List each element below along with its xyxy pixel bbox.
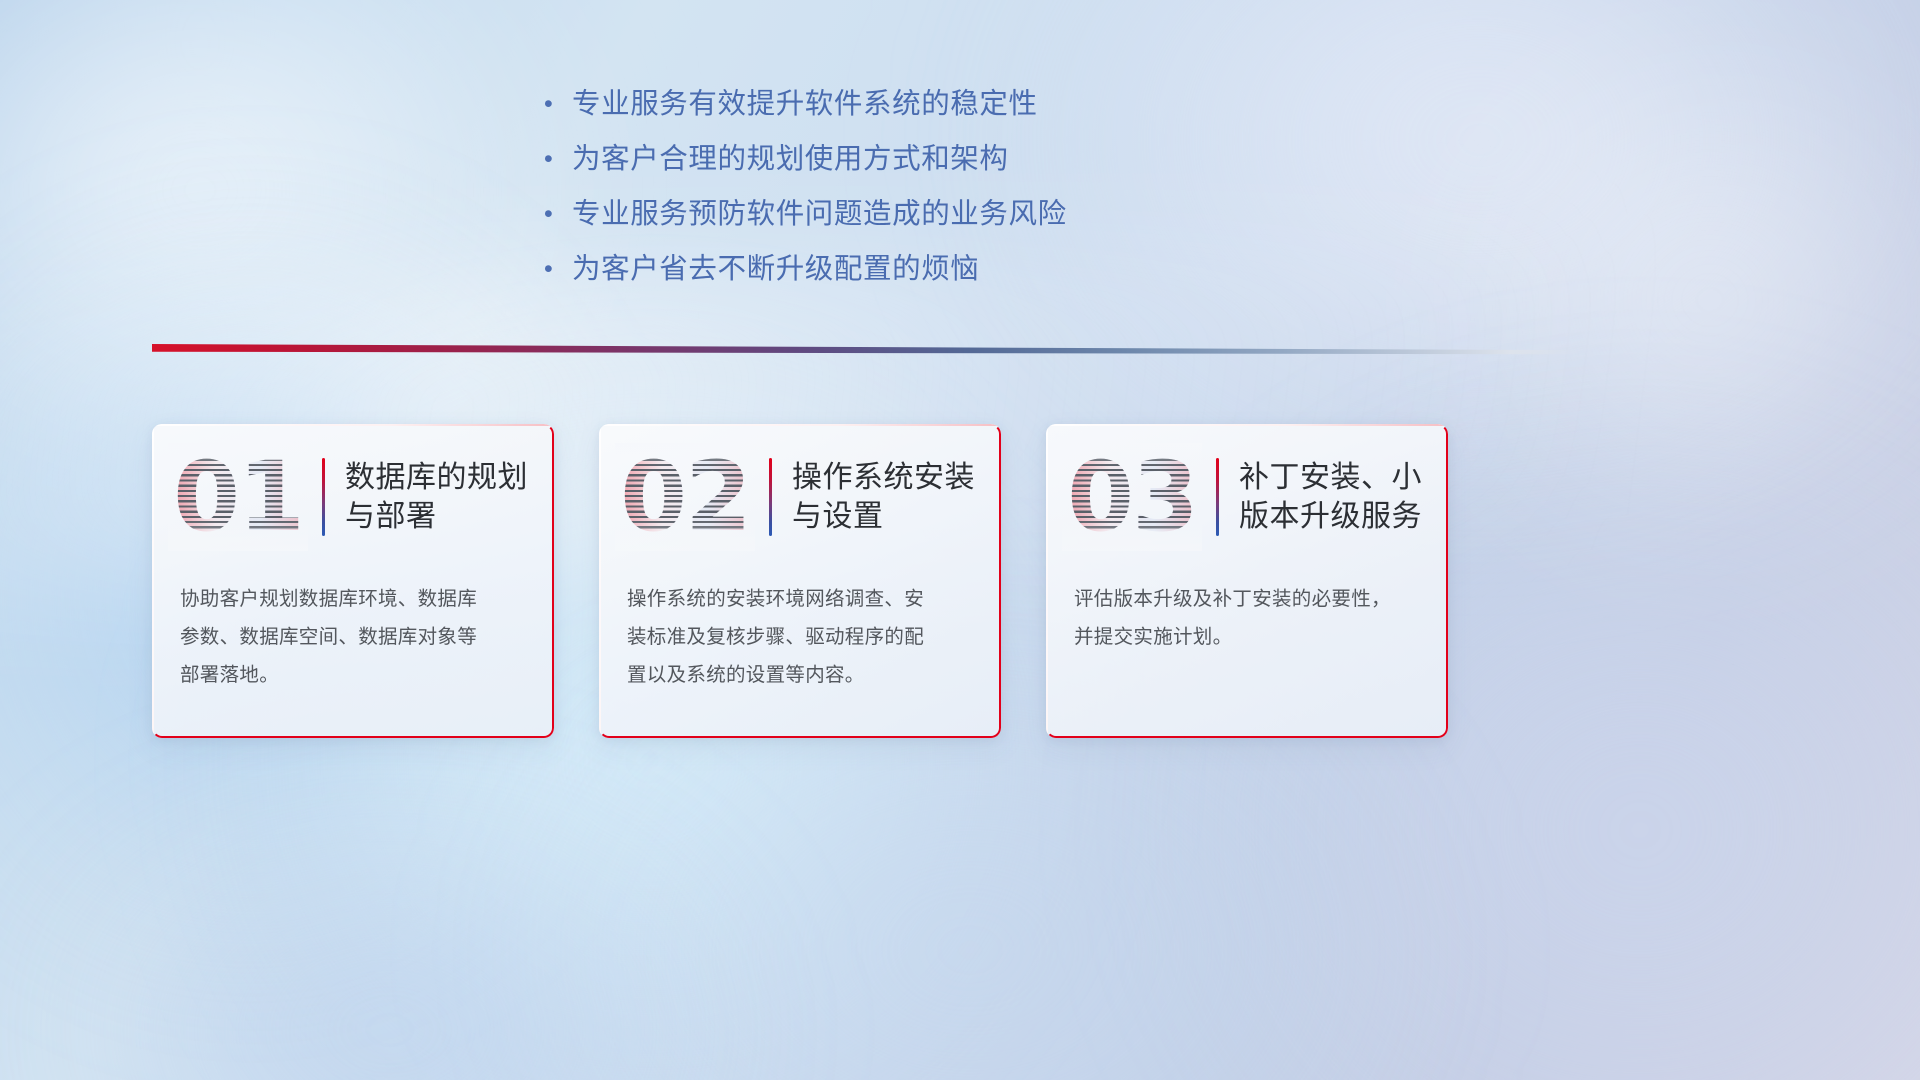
divider-gradient-bar (152, 344, 1582, 358)
list-item: • 专业服务预防软件问题造成的业务风险 (538, 196, 1298, 232)
list-item: • 为客户合理的规划使用方式和架构 (538, 141, 1298, 177)
card-number: 02 02 (615, 443, 755, 551)
bullet-text: 为客户合理的规划使用方式和架构 (572, 141, 1009, 177)
card-title: 数据库的规划 与部署 (345, 458, 528, 536)
card-number-fade-overlay (168, 443, 308, 551)
card-accent-rule (322, 458, 325, 536)
bullet-marker-icon: • (538, 251, 572, 287)
card-number-fade-overlay (1062, 443, 1202, 551)
card-number: 03 03 (1062, 443, 1202, 551)
card-title: 补丁安装、小 版本升级服务 (1239, 458, 1422, 536)
bullet-text: 专业服务有效提升软件系统的稳定性 (572, 86, 1038, 122)
card-body-text: 评估版本升级及补丁安装的必要性， 并提交实施计划。 (1046, 580, 1448, 656)
card-body-text: 协助客户规划数据库环境、数据库 参数、数据库空间、数据库对象等 部署落地。 (152, 580, 554, 694)
card-accent-rule (769, 458, 772, 536)
list-item: • 为客户省去不断升级配置的烦恼 (538, 251, 1298, 287)
card-row: 01 01 数据库的规划 与部署 协助客户规划数据库环境、数据库 参数、数据库空… (152, 424, 1448, 738)
card-number: 01 01 (168, 443, 308, 551)
card-header: 02 02 操作系统安装 与设置 (599, 424, 1001, 570)
feature-card-03[interactable]: 03 03 补丁安装、小 版本升级服务 评估版本升级及补丁安装的必要性， 并提交… (1046, 424, 1448, 738)
card-header: 03 03 补丁安装、小 版本升级服务 (1046, 424, 1448, 570)
bullet-text: 专业服务预防软件问题造成的业务风险 (572, 196, 1067, 232)
bullet-text: 为客户省去不断升级配置的烦恼 (572, 251, 979, 287)
card-number-fade-overlay (615, 443, 755, 551)
bullet-marker-icon: • (538, 141, 572, 177)
feature-card-01[interactable]: 01 01 数据库的规划 与部署 协助客户规划数据库环境、数据库 参数、数据库空… (152, 424, 554, 738)
slide-content: • 专业服务有效提升软件系统的稳定性 • 为客户合理的规划使用方式和架构 • 专… (0, 0, 1920, 1080)
bullet-marker-icon: • (538, 196, 572, 232)
list-item: • 专业服务有效提升软件系统的稳定性 (538, 86, 1298, 122)
section-divider (152, 344, 1582, 358)
bullet-marker-icon: • (538, 86, 572, 122)
card-body-text: 操作系统的安装环境网络调查、安 装标准及复核步骤、驱动程序的配 置以及系统的设置… (599, 580, 1001, 694)
card-accent-rule (1216, 458, 1219, 536)
bullet-list: • 专业服务有效提升软件系统的稳定性 • 为客户合理的规划使用方式和架构 • 专… (538, 86, 1298, 306)
card-title: 操作系统安装 与设置 (792, 458, 975, 536)
feature-card-02[interactable]: 02 02 操作系统安装 与设置 操作系统的安装环境网络调查、安 装标准及复核步… (599, 424, 1001, 738)
card-header: 01 01 数据库的规划 与部署 (152, 424, 554, 570)
